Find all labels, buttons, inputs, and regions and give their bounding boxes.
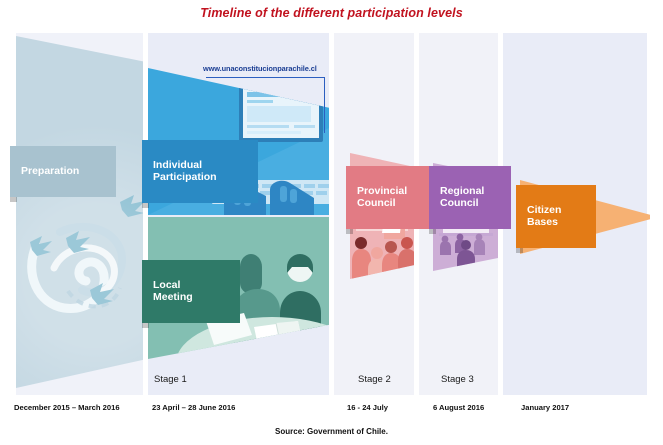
ribbon-local-meeting: Local Meeting bbox=[142, 260, 240, 323]
page-title: Timeline of the different participation … bbox=[0, 6, 663, 20]
panel-label-regional-council: Regional Council bbox=[440, 185, 484, 209]
panel-label-local-meeting: Local Meeting bbox=[153, 279, 193, 303]
ribbon-fold bbox=[142, 203, 149, 208]
stage-label-2: Stage 2 bbox=[358, 374, 391, 385]
ribbon-provincial-council: Provincial Council bbox=[346, 166, 430, 229]
date-label-stage1: 23 April – 28 June 2016 bbox=[152, 403, 235, 412]
infographic-root: Timeline of the different participation … bbox=[0, 0, 663, 445]
ribbon-fold bbox=[142, 323, 149, 328]
date-label-preparation: December 2015 – March 2016 bbox=[14, 403, 120, 412]
ribbon-citizen-bases: Citizen Bases bbox=[516, 185, 596, 248]
ribbon-fold bbox=[10, 197, 17, 202]
panel-label-individual-participation: Individual Participation bbox=[153, 159, 217, 183]
date-label-citizen-bases: January 2017 bbox=[521, 403, 569, 412]
source-note: Source: Government of Chile. bbox=[0, 427, 663, 436]
panel-label-citizen-bases: Citizen Bases bbox=[527, 204, 561, 228]
date-label-stage2: 16 - 24 July bbox=[347, 403, 388, 412]
panel-preparation bbox=[16, 36, 143, 388]
panel-label-provincial-council: Provincial Council bbox=[357, 185, 407, 209]
ribbon-individual-participation: Individual Participation bbox=[142, 140, 258, 203]
ribbon-regional-council: Regional Council bbox=[429, 166, 511, 229]
date-label-stage3: 6 August 2016 bbox=[433, 403, 484, 412]
ribbon-fold bbox=[429, 229, 436, 234]
url-callout-line-horizontal bbox=[206, 77, 325, 78]
panel-preparation-texture bbox=[16, 36, 143, 388]
panel-label-preparation: Preparation bbox=[21, 165, 79, 177]
ribbon-fold bbox=[516, 248, 523, 253]
ribbon-fold bbox=[346, 229, 353, 234]
stage-label-3: Stage 3 bbox=[441, 374, 474, 385]
url-callout-line-vertical bbox=[324, 77, 325, 133]
url-callout-text: www.unaconstitucionparachile.cl bbox=[203, 64, 317, 73]
ribbon-preparation: Preparation bbox=[10, 146, 116, 197]
stage-label-1: Stage 1 bbox=[154, 374, 187, 385]
